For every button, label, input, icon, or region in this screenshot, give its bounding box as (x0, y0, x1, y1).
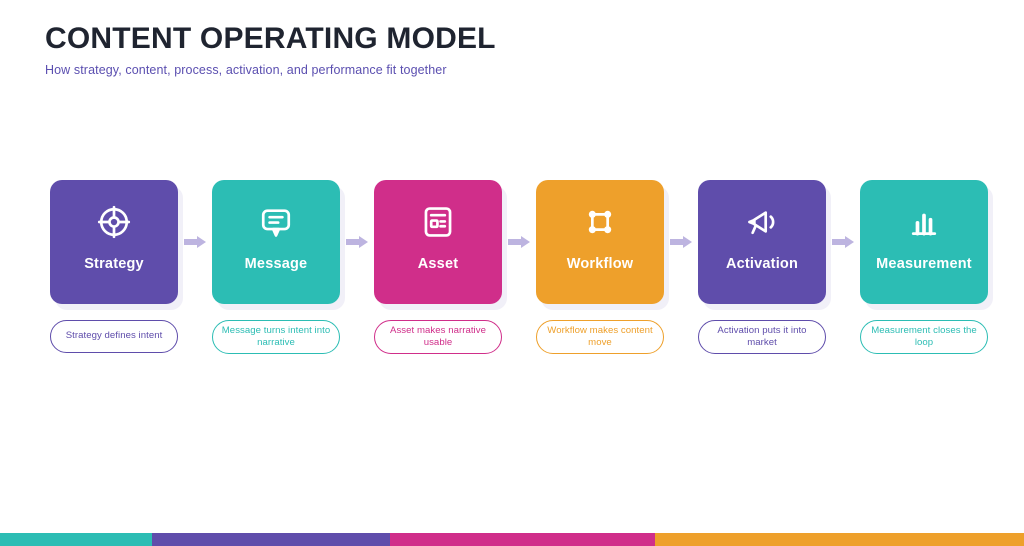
arrow-right-icon (670, 236, 692, 249)
stage-card-label: Asset (418, 256, 459, 272)
stage-caption-text: Message turns intent into narrative (219, 325, 333, 349)
stage-caption-pill: Measurement closes the loop (860, 320, 988, 354)
arrow-right-icon (832, 236, 854, 249)
stage-caption-pill: Strategy defines intent (50, 320, 178, 353)
stage-caption-text: Strategy defines intent (66, 330, 163, 342)
target-icon (96, 204, 132, 240)
arrow-right-icon (346, 236, 368, 249)
accent-segment-purple (152, 533, 390, 546)
flow-stage: MessageMessage turns intent into narrati… (212, 180, 340, 354)
accent-segment-pink (390, 533, 655, 546)
stage-caption-text: Asset makes narrative usable (381, 325, 495, 349)
stage-card-message[interactable]: Message (212, 180, 340, 304)
flow-connector (502, 180, 536, 304)
flow-stage: StrategyStrategy defines intent (50, 180, 178, 353)
stage-caption-pill: Message turns intent into narrative (212, 320, 340, 354)
stage-card-label: Activation (726, 256, 798, 272)
megaphone-icon (744, 204, 780, 240)
stage-card-label: Measurement (876, 256, 972, 272)
page-subtitle: How strategy, content, process, activati… (45, 63, 496, 77)
stage-card-measurement[interactable]: Measurement (860, 180, 988, 304)
header: CONTENT OPERATING MODEL How strategy, co… (45, 22, 496, 77)
flow-stage: MeasurementMeasurement closes the loop (860, 180, 988, 354)
flow-connector (664, 180, 698, 304)
speech-bubble-icon (258, 204, 294, 240)
stage-card-asset[interactable]: Asset (374, 180, 502, 304)
flow-stage: ActivationActivation puts it into market (698, 180, 826, 354)
page-title: CONTENT OPERATING MODEL (45, 22, 496, 56)
slide-canvas: CONTENT OPERATING MODEL How strategy, co… (0, 0, 1024, 546)
stage-card-strategy[interactable]: Strategy (50, 180, 178, 304)
flow-stage: WorkflowWorkflow makes content move (536, 180, 664, 354)
stage-caption-text: Measurement closes the loop (867, 325, 981, 349)
stage-card-activation[interactable]: Activation (698, 180, 826, 304)
flow-connector (826, 180, 860, 304)
accent-segment-teal (0, 533, 152, 546)
stage-caption-text: Activation puts it into market (705, 325, 819, 349)
accent-segment-orange (655, 533, 1024, 546)
bar-chart-icon (906, 204, 942, 240)
flow-connector (178, 180, 212, 304)
stage-caption-pill: Asset makes narrative usable (374, 320, 502, 354)
flow-connector (340, 180, 374, 304)
process-flow: StrategyStrategy defines intentMessageMe… (50, 180, 988, 354)
node-network-icon (582, 204, 618, 240)
flow-stage: AssetAsset makes narrative usable (374, 180, 502, 354)
document-layout-icon (420, 204, 456, 240)
arrow-right-icon (508, 236, 530, 249)
arrow-right-icon (184, 236, 206, 249)
stage-card-workflow[interactable]: Workflow (536, 180, 664, 304)
stage-card-label: Workflow (567, 256, 634, 272)
accent-bar (0, 533, 1024, 546)
stage-caption-pill: Workflow makes content move (536, 320, 664, 354)
stage-card-label: Message (245, 256, 308, 272)
stage-caption-text: Workflow makes content move (543, 325, 657, 349)
stage-caption-pill: Activation puts it into market (698, 320, 826, 354)
stage-card-label: Strategy (84, 256, 144, 272)
